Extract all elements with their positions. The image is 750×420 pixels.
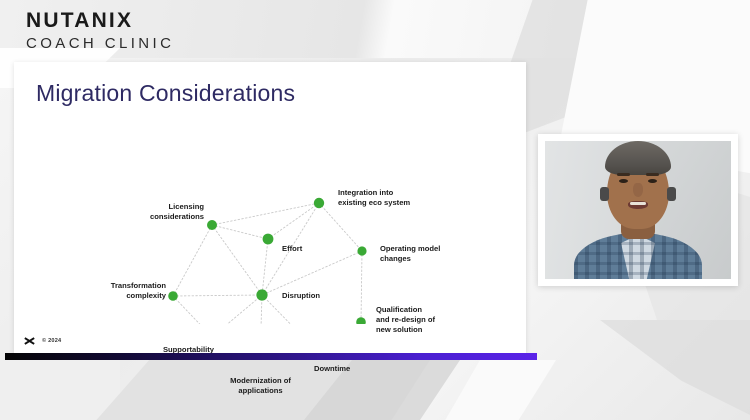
migration-considerations-network-diagram: Licensing considerationsIntegration into… bbox=[14, 114, 526, 324]
presenter-eye-right bbox=[648, 179, 657, 183]
diagram-edge bbox=[262, 251, 362, 295]
diagram-node-transformation[interactable] bbox=[168, 291, 178, 301]
diagram-edge bbox=[173, 225, 212, 296]
diagram-label-transformation: Transformation complexity bbox=[84, 281, 166, 301]
diagram-label-modernization: Modernization of applications bbox=[213, 376, 308, 396]
diagram-label-operating-model: Operating model changes bbox=[380, 244, 472, 264]
nutanix-coach-clinic-logo: NUTANIX COACH CLINIC bbox=[26, 10, 174, 51]
presenter-video-feed[interactable] bbox=[545, 141, 731, 279]
diagram-label-qualification: Qualification and re-design of new solut… bbox=[376, 305, 462, 335]
diagram-edge bbox=[312, 322, 361, 324]
diagram-edge bbox=[361, 251, 362, 322]
diagram-edge bbox=[173, 296, 212, 324]
brand-wordmark: NUTANIX bbox=[26, 10, 174, 31]
presenter-eyebrow-left bbox=[617, 173, 630, 176]
presenter-eye-left bbox=[619, 179, 628, 183]
presenter-earbud-right bbox=[667, 187, 676, 201]
slide-footer: © 2024 bbox=[24, 335, 61, 346]
diagram-node-integration[interactable] bbox=[314, 198, 324, 208]
diagram-label-downtime: Downtime bbox=[314, 364, 374, 374]
diagram-label-effort: Effort bbox=[282, 244, 332, 254]
nutanix-x-icon bbox=[24, 335, 35, 346]
copyright-text: © 2024 bbox=[42, 338, 61, 344]
diagram-label-disruption: Disruption bbox=[282, 291, 344, 301]
presentation-slide: Migration Considerations Licensing consi… bbox=[14, 62, 526, 354]
diagram-node-operating-model[interactable] bbox=[357, 246, 366, 255]
brand-subwordmark: COACH CLINIC bbox=[26, 36, 174, 51]
presenter-teeth bbox=[630, 202, 646, 206]
diagram-label-licensing: Licensing considerations bbox=[126, 202, 204, 222]
slide-title: Migration Considerations bbox=[36, 80, 295, 107]
diagram-edge bbox=[212, 295, 262, 324]
screen: NUTANIX COACH CLINIC Migration Considera… bbox=[0, 0, 750, 420]
diagram-edge bbox=[212, 225, 268, 239]
diagram-edge bbox=[173, 295, 262, 296]
accent-progress-bar bbox=[5, 353, 537, 360]
diagram-node-licensing[interactable] bbox=[207, 220, 217, 230]
presenter-video-tile[interactable] bbox=[538, 134, 738, 286]
presenter-nose bbox=[633, 183, 643, 197]
presenter-earbud-left bbox=[600, 187, 609, 201]
diagram-node-disruption[interactable] bbox=[256, 289, 267, 300]
presenter-eyebrow-right bbox=[646, 173, 659, 176]
diagram-node-effort[interactable] bbox=[263, 234, 274, 245]
diagram-edge bbox=[268, 203, 319, 239]
diagram-node-qualification[interactable] bbox=[356, 317, 366, 324]
diagram-label-integration: Integration into existing eco system bbox=[338, 188, 438, 208]
